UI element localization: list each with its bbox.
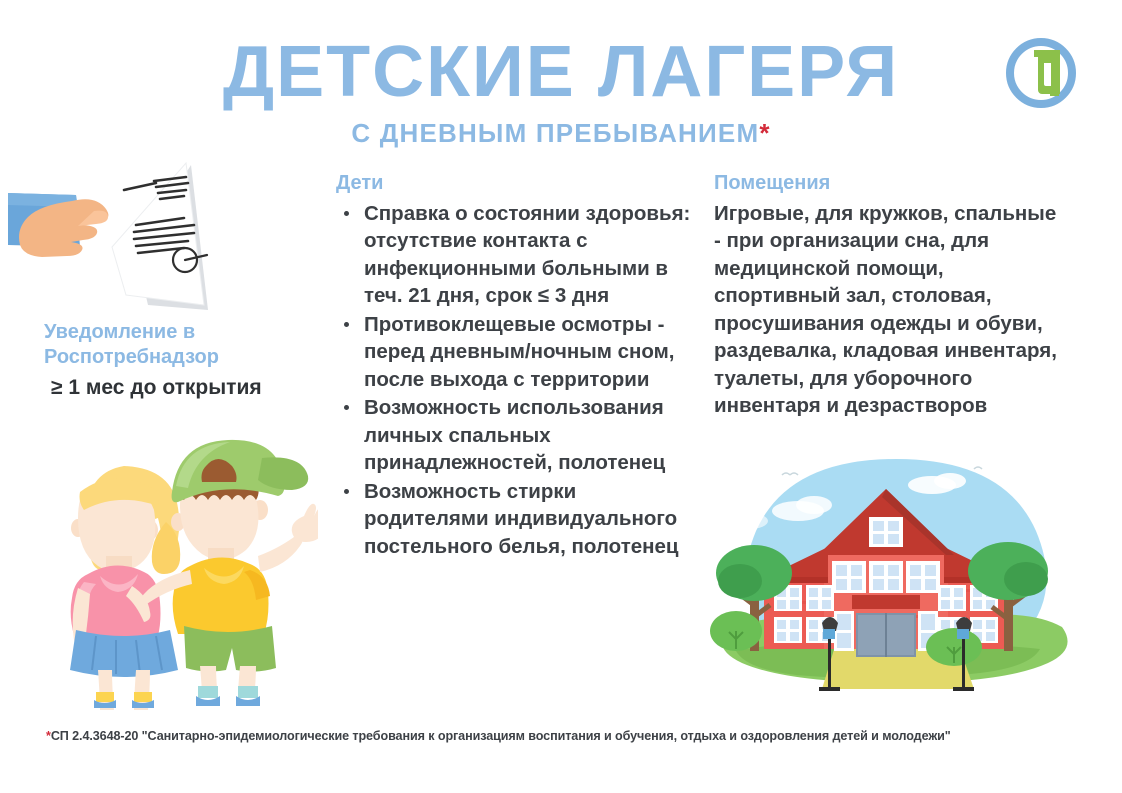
list-item: Справка о состоянии здоровья: отсутствие…: [336, 200, 696, 310]
right-column-heading: Помещения: [714, 171, 1064, 196]
left-column-heading: Уведомление в Роспотребнадзор: [44, 320, 324, 370]
document-icon: [8, 155, 308, 315]
school-building-illustration: [706, 455, 1086, 710]
left-column: Уведомление в Роспотребнадзор ≥ 1 мес до…: [44, 320, 324, 401]
children-requirements-list: Справка о состоянии здоровья: отсутствие…: [336, 200, 696, 560]
middle-column: Дети Справка о состоянии здоровья: отсут…: [336, 171, 696, 561]
building-icon: [706, 455, 1086, 705]
page-subtitle: С ДНЕВНЫМ ПРЕБЫВАНИЕМ*: [0, 120, 1122, 146]
middle-column-heading: Дети: [336, 171, 696, 196]
right-column: Помещения Игровые, для кружков, спальные…: [714, 171, 1064, 420]
footnote: *СП 2.4.3648-20 "Санитарно-эпидемиологич…: [46, 729, 1086, 743]
footnote-text: СП 2.4.3648-20 "Санитарно-эпидемиологиче…: [51, 729, 951, 743]
page-subtitle-text: С ДНЕВНЫМ ПРЕБЫВАНИЕМ: [351, 118, 759, 148]
premises-text: Игровые, для кружков, спальные - при орг…: [714, 200, 1064, 420]
list-item: Возможность использования личных спальны…: [336, 394, 696, 476]
list-item: Возможность стирки родителями индивидуал…: [336, 478, 696, 560]
subtitle-asterisk-marker: *: [759, 118, 770, 148]
logo-icon: [1004, 36, 1078, 110]
two-children-illustration: [28, 430, 318, 715]
page-title: ДЕТСКИЕ ЛАГЕРЯ: [0, 36, 1122, 108]
left-column-note: ≥ 1 мес до открытия: [44, 374, 324, 401]
circle-monogram-logo: [1004, 36, 1078, 110]
poster-canvas: ДЕТСКИЕ ЛАГЕРЯ С ДНЕВНЫМ ПРЕБЫВАНИЕМ*: [0, 0, 1122, 793]
children-icon: [28, 430, 318, 710]
list-item: Противоклещевые осмотры - перед дневным/…: [336, 311, 696, 393]
hand-pointing-at-document-illustration: [8, 155, 308, 320]
